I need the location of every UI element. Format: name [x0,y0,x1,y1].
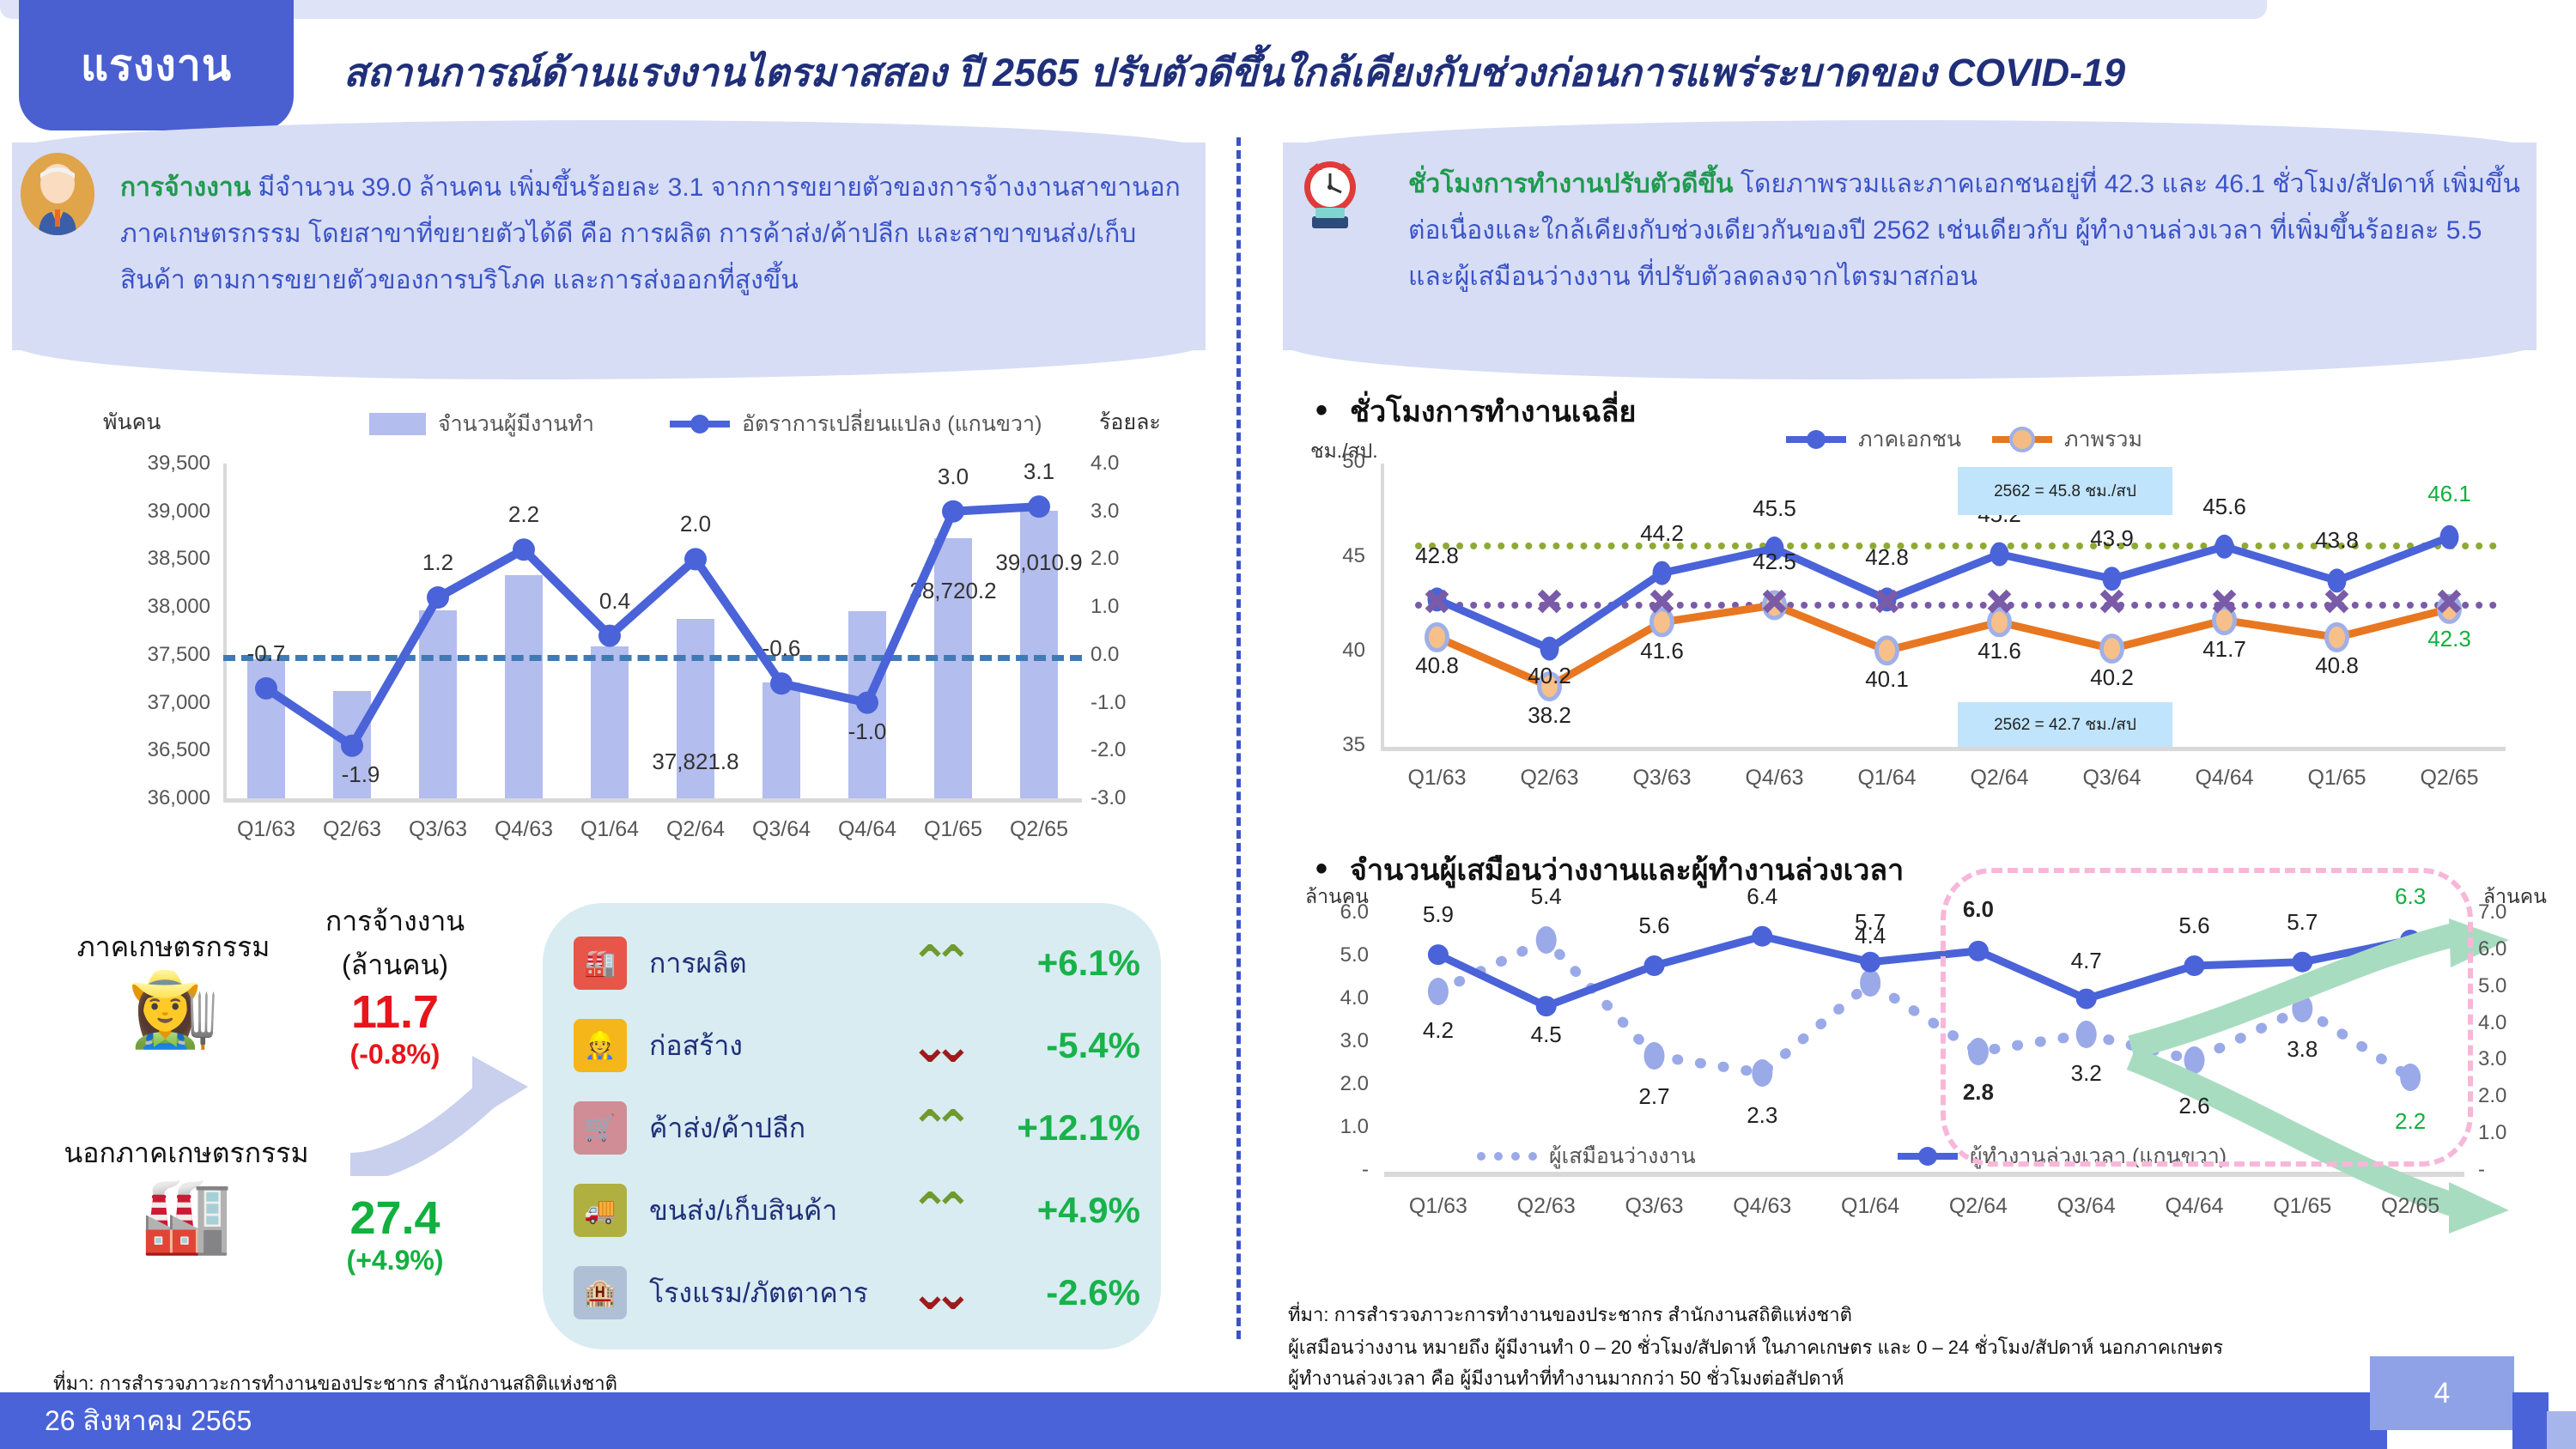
line-legend-marker [670,421,730,427]
under-underemployed-label: 2.3 [1702,1102,1822,1129]
y2-tick: 2.0 [1091,547,1159,571]
y2-tick: 5.0 [2478,974,2542,998]
hours-legend-overall-label: ภาพรวม [2064,422,2142,457]
x-tick: Q2/65 [2390,766,2510,791]
x-tick: Q2/65 [979,817,1099,842]
y2-tick: 0.0 [1091,643,1159,667]
x-tick: Q4/64 [2165,766,2285,791]
y2-tick: 7.0 [2478,900,2542,925]
y2-tick: 6.0 [2478,937,2542,961]
segment-nonagriculture-value-group: 27.4 (+4.9%) [283,1191,507,1276]
x-tick: Q4/63 [1702,1194,1822,1219]
under-overtime-label: 6.4 [1702,883,1822,910]
average-working-hours-chart: ชม./สป. ภาคเอกชน ภาพรวม 42.840.244.245.5… [1305,455,2542,815]
line-value-label: 3.1 [979,458,1099,485]
sector-growth-card: 🏭การผลิต⌃⌃+6.1%👷ก่อสร้าง⌄⌄-5.4%🛒ค้าส่ง/ค… [543,903,1161,1349]
y-tick: - [1305,1158,1369,1182]
segment-agriculture: ภาคเกษตรกรรม 👩‍🌾 [45,925,302,1051]
hours-overall-label: 40.8 [2277,652,2397,679]
x-tick: Q2/63 [1486,1194,1607,1219]
sector-change-value: -2.6% [963,1272,1140,1313]
employment-column-header-line1: การจ้างงาน [283,900,507,943]
x-tick: Q2/63 [1490,766,1610,791]
y2-tick: -3.0 [1091,786,1159,810]
hours-private-label: 42.8 [1827,544,1947,571]
employment-column-header: การจ้างงาน (ล้านคน) [283,900,507,987]
hours-overall-label: 41.6 [1602,638,1722,664]
y-tick: 39,500 [103,452,210,476]
underemployed-legend-marker [1477,1152,1537,1161]
sector-name: ค้าส่ง/ค้าปลีก [649,1106,903,1150]
hours-overall-label: 38.2 [1490,702,1610,729]
y2-tick: 3.0 [1091,500,1159,524]
factory-line-icon: 🏭 [574,937,627,990]
line-value-label: 1.2 [378,549,498,576]
private-legend-marker [1786,436,1846,443]
employment-y-unit: พันคน [103,405,161,440]
segment-nonagriculture-change: (+4.9%) [283,1245,507,1276]
sector-change-value: +12.1% [963,1107,1140,1149]
segment-agriculture-label: ภาคเกษตรกรรม [45,925,302,969]
y-tick: 40 [1305,639,1365,663]
under-underemployed-label: 4.2 [1378,1017,1498,1044]
hours-plot-area: 42.840.244.245.542.845.243.945.643.846.1… [1381,464,2506,747]
hours-overall-label: 40.8 [1377,652,1498,679]
employment-chart: พันคน ร้อยละ จำนวนผู้มีงานทำ อัตราการเปล… [103,429,1176,841]
source-note-right-3: ผู้ทำงานล่วงเวลา คือ ผู้มีงานทำที่ทำงานม… [1288,1363,1844,1393]
under-overtime-label: 5.6 [1595,912,1715,939]
employment-y2-unit: ร้อยละ [1099,405,1161,440]
worker-avatar-icon [21,153,94,235]
line-value-label: 0.4 [555,588,675,615]
list-item[interactable]: 🏨โรงแรม/ภัตตาคาร⌄⌄-2.6% [574,1255,1140,1331]
x-tick: Q4/63 [1715,766,1835,791]
y-tick: 37,000 [103,691,210,715]
section-tab: แรงงาน [19,0,294,130]
overall-legend-marker [1992,436,2052,443]
hours-overall-label: 41.6 [1940,638,2060,664]
y-tick: 35 [1305,733,1365,757]
x-tick: Q3/63 [1595,1194,1715,1219]
hours-private-label: 42.8 [1377,543,1498,569]
hours-legend-private: ภาคเอกชน [1786,422,1961,457]
y-tick: 39,000 [103,500,210,524]
under-overtime-label: 5.7 [1810,909,1930,936]
y2-tick: 3.0 [2478,1047,2542,1071]
y-tick: 38,500 [103,547,210,571]
chevron-up-icon: ⌃⌃ [903,1113,963,1143]
footer-date: 26 สิงหาคม 2565 [45,1399,252,1443]
employment-column-header-line2: (ล้านคน) [283,943,507,987]
slide-root: แรงงาน สถานการณ์ด้านแรงงานไตรมาสสอง ปี 2… [0,0,2576,1449]
line-value-label: -0.6 [721,635,841,662]
under-underemployed-label: 5.4 [1486,883,1607,910]
callout-right-text: ชั่วโมงการทำงานปรับตัวดีขึ้น โดยภาพรวมแล… [1408,161,2533,300]
list-item[interactable]: 🏭การผลิต⌃⌃+6.1% [574,925,1140,1001]
y2-tick: - [2478,1158,2542,1182]
list-item[interactable]: 🚚ขนส่ง/เก็บสินค้า⌃⌃+4.9% [574,1173,1140,1248]
y-tick: 50 [1305,450,1365,474]
y-tick: 36,500 [103,738,210,762]
x-tick: Q3/64 [2026,1194,2147,1219]
hours-legend-private-label: ภาคเอกชน [1858,422,1961,457]
alarm-clock-icon [1293,151,1367,233]
employment-legend-bar-label: จำนวนผู้มีงานทำ [438,407,594,441]
x-tick: Q2/65 [2350,1194,2470,1219]
y2-tick: -1.0 [1091,691,1159,715]
footer-bar: 26 สิงหาคม 2565 [0,1392,2387,1449]
sector-name: ก่อสร้าง [649,1024,903,1068]
y2-tick: 4.0 [2478,1011,2542,1035]
highlight-region [1941,868,2473,1167]
shopping-cart-icon: 🛒 [574,1101,627,1155]
segment-nonagriculture-label: นอกภาคเกษตรกรรม [45,1131,328,1175]
hours-overall-label: 40.1 [1827,666,1947,693]
hours-note-private: 2562 = 45.8 ชม./สป [1958,467,2172,515]
x-tick: Q3/64 [2052,766,2172,791]
hours-private-label: 40.2 [1490,663,1610,689]
sector-change-value: +4.9% [963,1190,1140,1231]
column-divider [1236,137,1241,1339]
callout-left-text: การจ้างงาน มีจำนวน 39.0 ล้านคน เพิ่มขึ้น… [120,165,1194,304]
sector-name: ขนส่ง/เก็บสินค้า [649,1189,903,1233]
list-item[interactable]: 👷ก่อสร้าง⌄⌄-5.4% [574,1008,1140,1083]
callout-left-body: มีจำนวน 39.0 ล้านคน เพิ่มขึ้นร้อยละ 3.1 … [120,173,1181,294]
y-tick: 5.0 [1305,943,1369,967]
hours-private-label: 45.6 [2165,494,2285,520]
under-legend-underemployed-label: ผู้เสมือนว่างงาน [1549,1139,1696,1173]
line-value-label: -0.7 [206,640,326,667]
source-note-right-2: ผู้เสมือนว่างงาน หมายถึง ผู้มีงานทำ 0 – … [1288,1332,2223,1362]
under-underemployed-label: 2.7 [1595,1083,1715,1110]
construction-icon: 👷 [574,1019,627,1072]
sector-name: โรงแรม/ภัตตาคาร [649,1271,903,1315]
sector-change-value: -5.4% [963,1025,1140,1066]
employment-legend-line-label: อัตราการเปลี่ยนแปลง (แกนขวา) [742,407,1042,441]
y2-tick: 1.0 [1091,595,1159,619]
y-tick: 2.0 [1305,1072,1369,1096]
list-item[interactable]: 🛒ค้าส่ง/ค้าปลีก⌃⌃+12.1% [574,1090,1140,1166]
employment-legend-bars: จำนวนผู้มีงานทำ [369,407,594,441]
x-tick: Q2/64 [1940,766,2060,791]
hours-overall-label: 42.5 [1715,549,1835,575]
source-note-right-1: ที่มา: การสำรวจภาวะการทำงานของประชากร สำ… [1288,1300,1852,1330]
hotel-restaurant-icon: 🏨 [574,1266,627,1319]
hours-overall-label: 42.3 [2390,626,2510,652]
callout-right-lead: ชั่วโมงการทำงานปรับตัวดีขึ้น [1408,170,1734,198]
y2-tick: -2.0 [1091,738,1159,762]
segment-agriculture-value: 11.7 [283,985,507,1039]
page-title: สถานการณ์ด้านแรงงานไตรมาสสอง ปี 2565 ปรั… [343,41,2233,103]
hours-legend-overall: ภาพรวม [1992,422,2142,457]
y-tick: 3.0 [1305,1029,1369,1053]
page-number-badge: 4 [2370,1356,2514,1430]
hours-x-axis [1381,747,2506,751]
y-tick: 1.0 [1305,1115,1369,1139]
y-tick: 36,000 [103,786,210,810]
chevron-down-icon: ⌄⌄ [903,1278,963,1307]
page-badge-accent-secondary [2547,1411,2576,1449]
bar-legend-swatch [369,413,426,435]
x-tick: Q2/64 [1918,1194,2038,1219]
x-tick: Q1/63 [1377,766,1498,791]
line-value-label: 2.2 [464,501,584,528]
chevron-up-icon: ⌃⌃ [903,1196,963,1225]
hours-private-label: 43.8 [2277,527,2397,554]
under-overtime-label: 5.9 [1378,901,1498,928]
hours-overall-label: 41.7 [2165,636,2285,663]
chevron-up-icon: ⌃⌃ [903,949,963,978]
y-tick: 37,500 [103,643,210,667]
y2-tick: 2.0 [2478,1084,2542,1108]
y2-tick: 1.0 [2478,1121,2542,1145]
delivery-truck-icon: 🚚 [574,1184,627,1237]
segment-agriculture-value-group: 11.7 (-0.8%) [283,985,507,1070]
line-value-label: 2.0 [635,511,756,537]
line-value-label: -1.0 [807,718,927,745]
line-value-label: -1.9 [301,761,421,788]
x-tick: Q4/64 [2135,1194,2255,1219]
y-tick: 4.0 [1305,986,1369,1010]
y2-tick: 4.0 [1091,452,1159,476]
x-tick: Q1/64 [1827,766,1947,791]
page-badge-accent [2512,1392,2549,1449]
hours-section-heading: ชั่วโมงการทำงานเฉลี่ย [1315,388,1636,434]
under-legend-underemployed: ผู้เสมือนว่างงาน [1477,1139,1696,1173]
chevron-down-icon: ⌄⌄ [903,1031,963,1060]
y-tick: 6.0 [1305,900,1369,925]
hours-overall-label: 40.2 [2052,664,2172,691]
hours-private-label: 43.9 [2052,525,2172,552]
hours-private-label: 46.1 [2390,481,2510,507]
overtime-legend-marker [1898,1153,1958,1160]
x-tick: Q3/63 [1602,766,1722,791]
sector-change-value: +6.1% [963,943,1140,984]
employment-plot-area: 37,821.838,720.239,010.9-0.7-1.91.22.20.… [223,464,1082,798]
hours-private-label: 44.2 [1602,520,1722,547]
employment-legend-line: อัตราการเปลี่ยนแปลง (แกนขวา) [670,407,1042,441]
top-accent-strip [0,0,2267,19]
employment-x-axis [223,798,1082,803]
segment-nonagriculture-value: 27.4 [283,1191,507,1245]
under-overtime-label: 4.5 [1486,1022,1607,1048]
section-tab-label: แรงงาน [81,32,232,100]
hours-private-label: 45.5 [1715,495,1835,522]
segment-agriculture-change: (-0.8%) [283,1039,507,1070]
x-tick: Q1/64 [1810,1194,1930,1219]
underemployment-overtime-chart: ล้านคน ล้านคน 4.25.42.72.34.42.83.22.63.… [1305,906,2542,1258]
x-tick: Q1/63 [1378,1194,1498,1219]
x-tick: Q1/65 [2242,1194,2362,1219]
x-tick: Q1/65 [2277,766,2397,791]
y-tick: 45 [1305,544,1365,568]
y-tick: 38,000 [103,595,210,619]
farmers-icon: 👩‍🌾 [45,969,302,1051]
hours-note-overall: 2562 = 42.7 ชม./สป [1958,702,2172,747]
sector-name: การผลิต [649,942,903,985]
callout-left-lead: การจ้างงาน [120,173,251,202]
